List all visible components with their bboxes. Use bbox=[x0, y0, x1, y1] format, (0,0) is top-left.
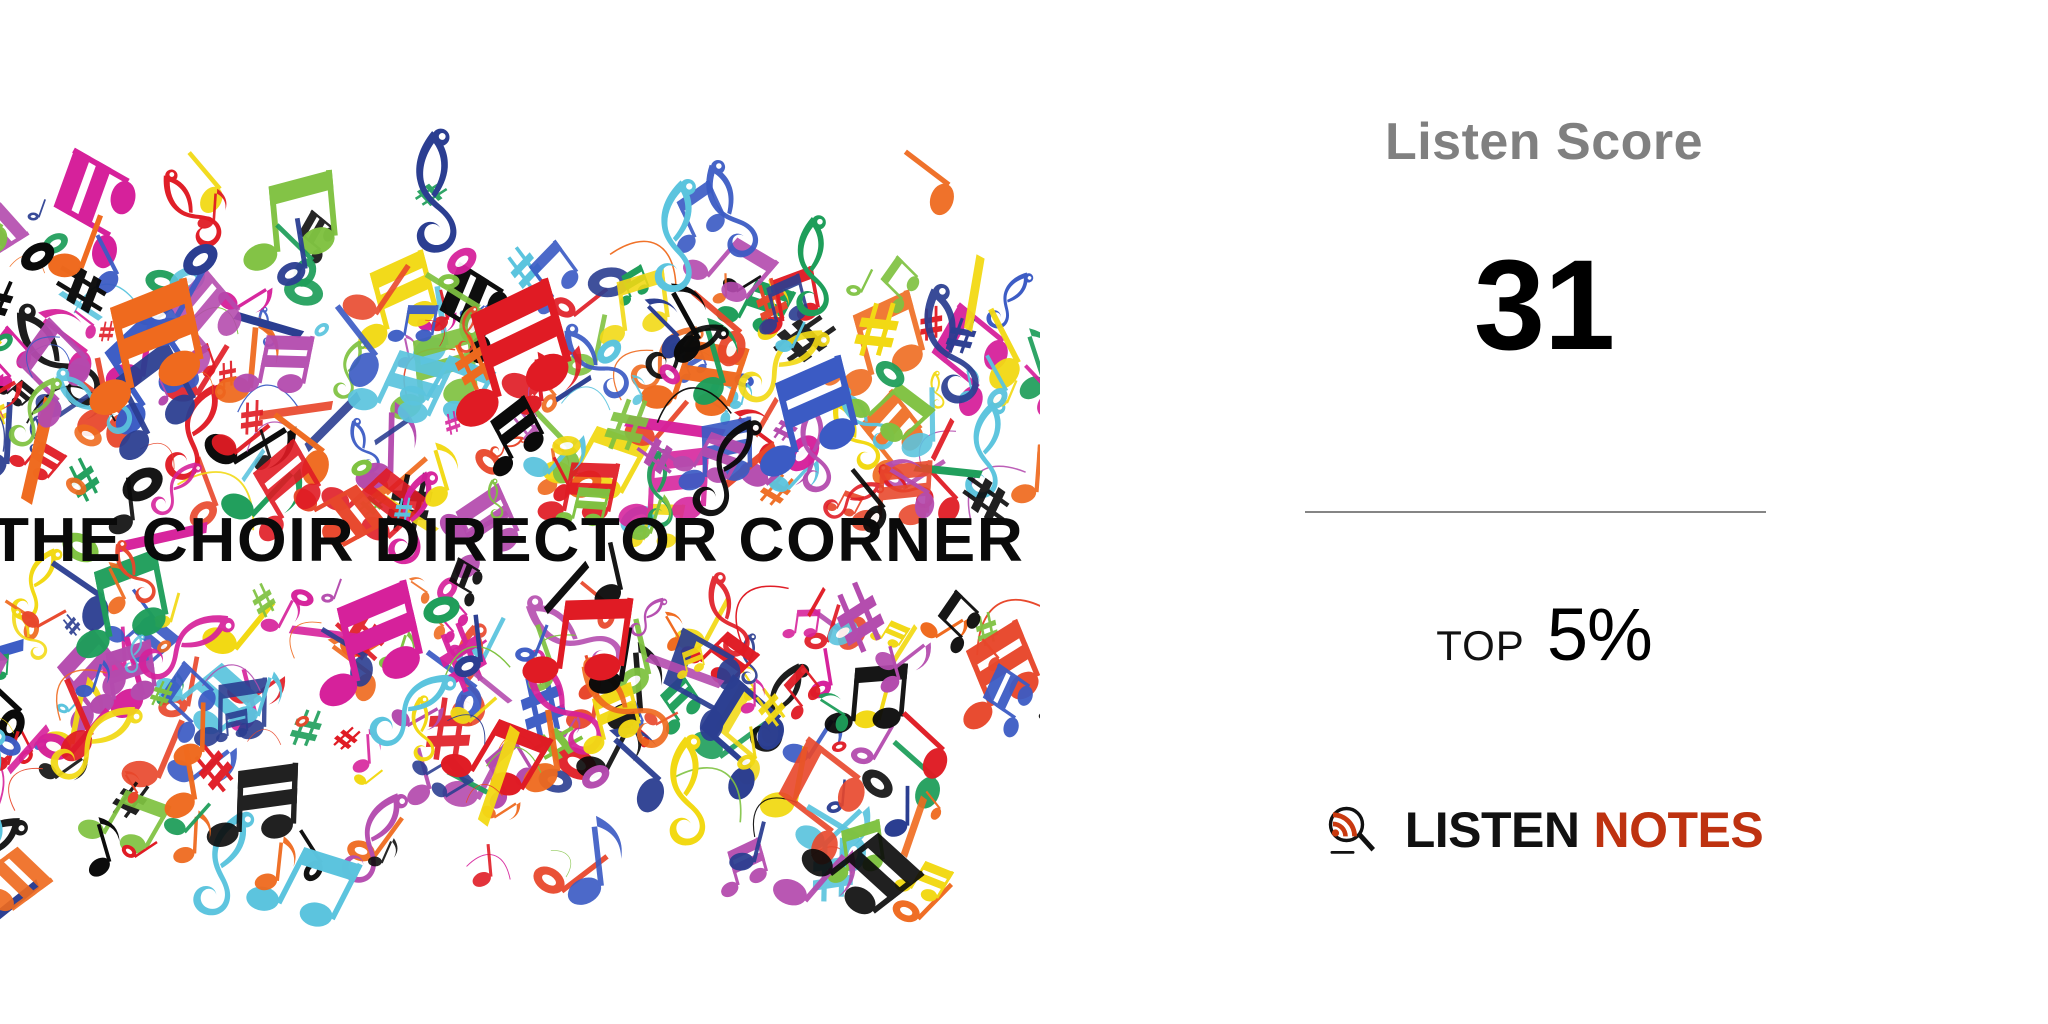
listennotes-magnifier-rss-icon bbox=[1325, 804, 1377, 856]
listen-notes-wordmark: LISTENNOTES bbox=[1405, 805, 1764, 855]
listen-score-label: Listen Score bbox=[1040, 112, 2048, 172]
score-divider bbox=[1305, 511, 1766, 513]
rank-top-label: TOP bbox=[1436, 622, 1525, 669]
cover-art-title: THE CHOIR DIRECTOR CORNER bbox=[0, 508, 1040, 578]
listen-notes-logo[interactable]: LISTENNOTES bbox=[1040, 792, 2048, 868]
listen-score-widget: THE CHOIR DIRECTOR CORNER Listen Score 3… bbox=[0, 0, 2048, 1024]
wordmark-listen: LISTEN bbox=[1405, 802, 1580, 858]
listen-score-value: 31 bbox=[1040, 232, 2048, 379]
global-rank-row: TOP5% bbox=[1040, 592, 2048, 677]
wordmark-notes: NOTES bbox=[1594, 802, 1764, 858]
podcast-cover-art[interactable]: THE CHOIR DIRECTOR CORNER bbox=[0, 0, 1040, 1024]
rank-percent-value: 5% bbox=[1547, 593, 1652, 676]
listen-score-panel: Listen Score 31 TOP5% LISTENNOTES bbox=[1040, 0, 2048, 1024]
